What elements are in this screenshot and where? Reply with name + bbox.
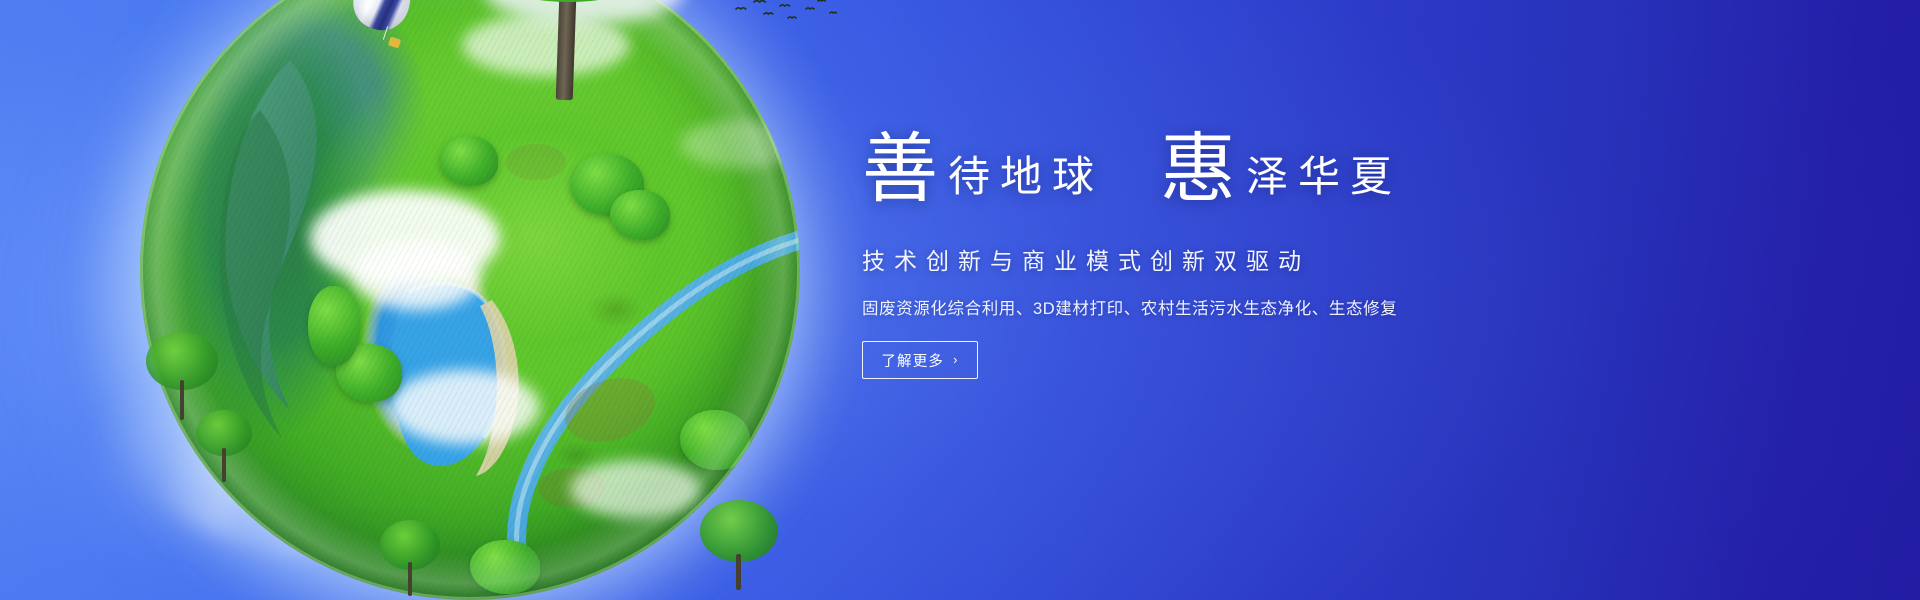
shrub-cluster — [336, 344, 402, 402]
hero-banner: 善 待地球 惠 泽华夏 技术创新与商业模式创新双驱动 固废资源化综合利用、3D建… — [0, 0, 1920, 600]
shrub-cluster — [440, 136, 498, 186]
hero-tree — [440, 0, 690, 112]
learn-more-label: 了解更多 — [881, 350, 944, 371]
planet-cloud — [570, 460, 700, 518]
banner-subtitle: 技术创新与商业模式创新双驱动 — [862, 242, 1562, 276]
headline-part2-small: 泽华夏 — [1246, 157, 1402, 199]
chevron-right-icon: › — [953, 352, 959, 367]
banner-description: 固废资源化综合利用、3D建材打印、农村生活污水生态净化、生态修复 — [862, 295, 1562, 319]
headline-part2-large: 惠 — [1160, 132, 1236, 208]
tree-trunk — [556, 0, 578, 100]
earth-globe-illustration — [140, 0, 800, 600]
shrub-cluster — [680, 410, 750, 470]
planet-cloud — [680, 120, 800, 168]
planet-cloud — [352, 240, 482, 310]
learn-more-button[interactable]: 了解更多 › — [862, 341, 978, 379]
planet-cloud — [310, 190, 500, 286]
shrub-cluster — [610, 190, 670, 240]
tree-mist — [484, 0, 684, 24]
balloon-basket — [388, 37, 401, 49]
headline-part1-small: 待地球 — [948, 157, 1104, 199]
birds-flock-icon — [720, 0, 850, 32]
shrub-cluster — [470, 540, 540, 594]
shrub-cluster — [570, 154, 644, 216]
hot-air-balloon — [355, 0, 415, 60]
shrub-cluster — [308, 286, 360, 366]
headline-part1-large: 善 — [862, 132, 938, 208]
banner-copy: 善 待地球 惠 泽华夏 技术创新与商业模式创新双驱动 固废资源化综合利用、3D建… — [862, 128, 1562, 379]
page-title: 善 待地球 惠 泽华夏 — [862, 128, 1562, 220]
planet-cloud — [390, 370, 540, 444]
balloon-envelope — [346, 0, 420, 37]
